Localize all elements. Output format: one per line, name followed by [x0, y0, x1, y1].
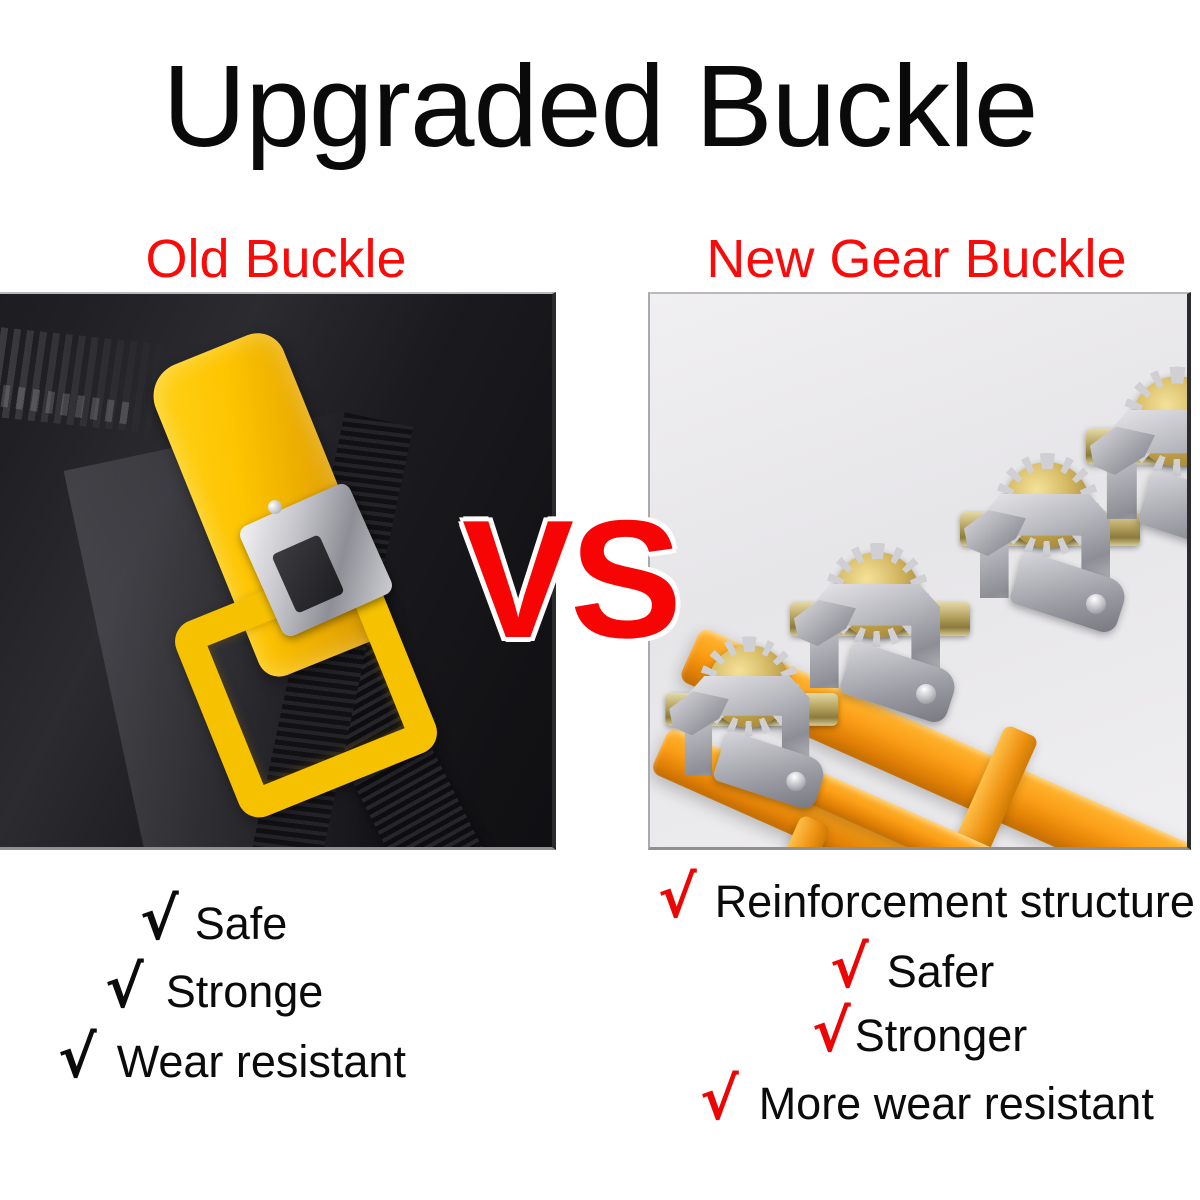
versus-badge: VS	[440, 495, 700, 663]
list-item: √ Safe	[140, 890, 287, 948]
list-item: √ Wear resistant	[58, 1028, 406, 1086]
new-gear-buckle-photo	[648, 292, 1191, 850]
feature-label: More wear resistant	[759, 1081, 1154, 1126]
list-item: √ Stronge	[105, 958, 323, 1016]
checkmark-icon: √	[105, 958, 144, 1016]
checkmark-icon: √	[830, 938, 869, 996]
new-gear-buckle-illustration	[650, 294, 1187, 847]
new-gear-buckle-heading: New Gear Buckle	[648, 232, 1185, 286]
gear-buckle-unit	[800, 544, 950, 714]
feature-label: Stronge	[166, 969, 324, 1014]
checkmark-icon: √	[658, 868, 697, 926]
gear-buckle-unit	[1096, 368, 1191, 547]
checkmark-icon: √	[140, 890, 179, 948]
feature-label: Reinforcement structure	[715, 879, 1195, 924]
feature-label: Wear resistant	[117, 1039, 406, 1084]
gear-tongue	[1008, 550, 1129, 635]
gear-tongue	[838, 640, 959, 725]
list-item: √ More wear resistant	[700, 1070, 1154, 1128]
feature-label: Stronger	[855, 1013, 1028, 1058]
checkmark-icon: √	[700, 1070, 739, 1128]
list-item: √ Safer	[830, 938, 994, 996]
feature-label: Safer	[887, 949, 995, 994]
gear-tongue	[1137, 469, 1191, 559]
feature-label: Safe	[195, 901, 288, 946]
checkmark-icon: √	[812, 1002, 851, 1060]
rim-hollow	[0, 847, 106, 850]
checkmark-icon: √	[58, 1028, 97, 1086]
list-item: √ Reinforcement structure	[658, 868, 1195, 926]
page-title: Upgraded Buckle	[0, 48, 1200, 164]
old-buckle-heading: Old Buckle	[0, 232, 552, 286]
list-item: √ Stronger	[812, 1002, 1027, 1060]
gear-tongue	[712, 730, 828, 812]
